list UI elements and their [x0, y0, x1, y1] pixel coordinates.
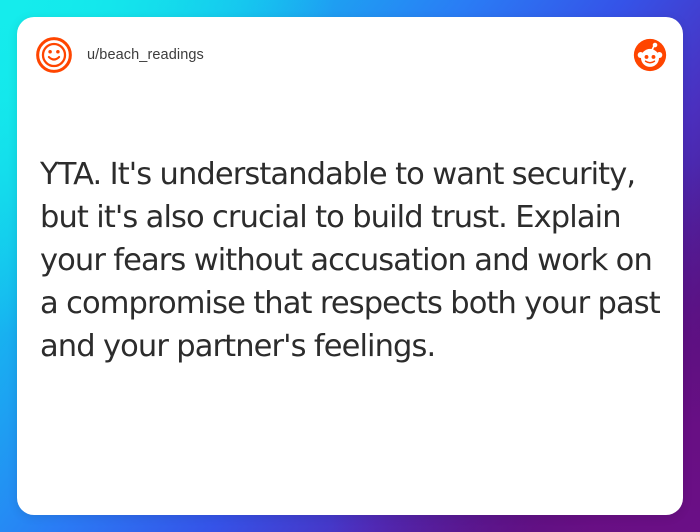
- reddit-snoo-icon[interactable]: [633, 38, 667, 72]
- smiley-face-avatar-icon[interactable]: [35, 36, 73, 74]
- card-header: u/beach_readings: [17, 17, 683, 93]
- reddit-comment-card: u/beach_readings YTA. It's understandabl…: [17, 17, 683, 515]
- comment-text: YTA. It's understandable to want securit…: [40, 153, 661, 368]
- gradient-background: u/beach_readings YTA. It's understandabl…: [0, 0, 700, 532]
- card-body: YTA. It's understandable to want securit…: [17, 93, 683, 515]
- username-label: u/beach_readings: [87, 47, 204, 63]
